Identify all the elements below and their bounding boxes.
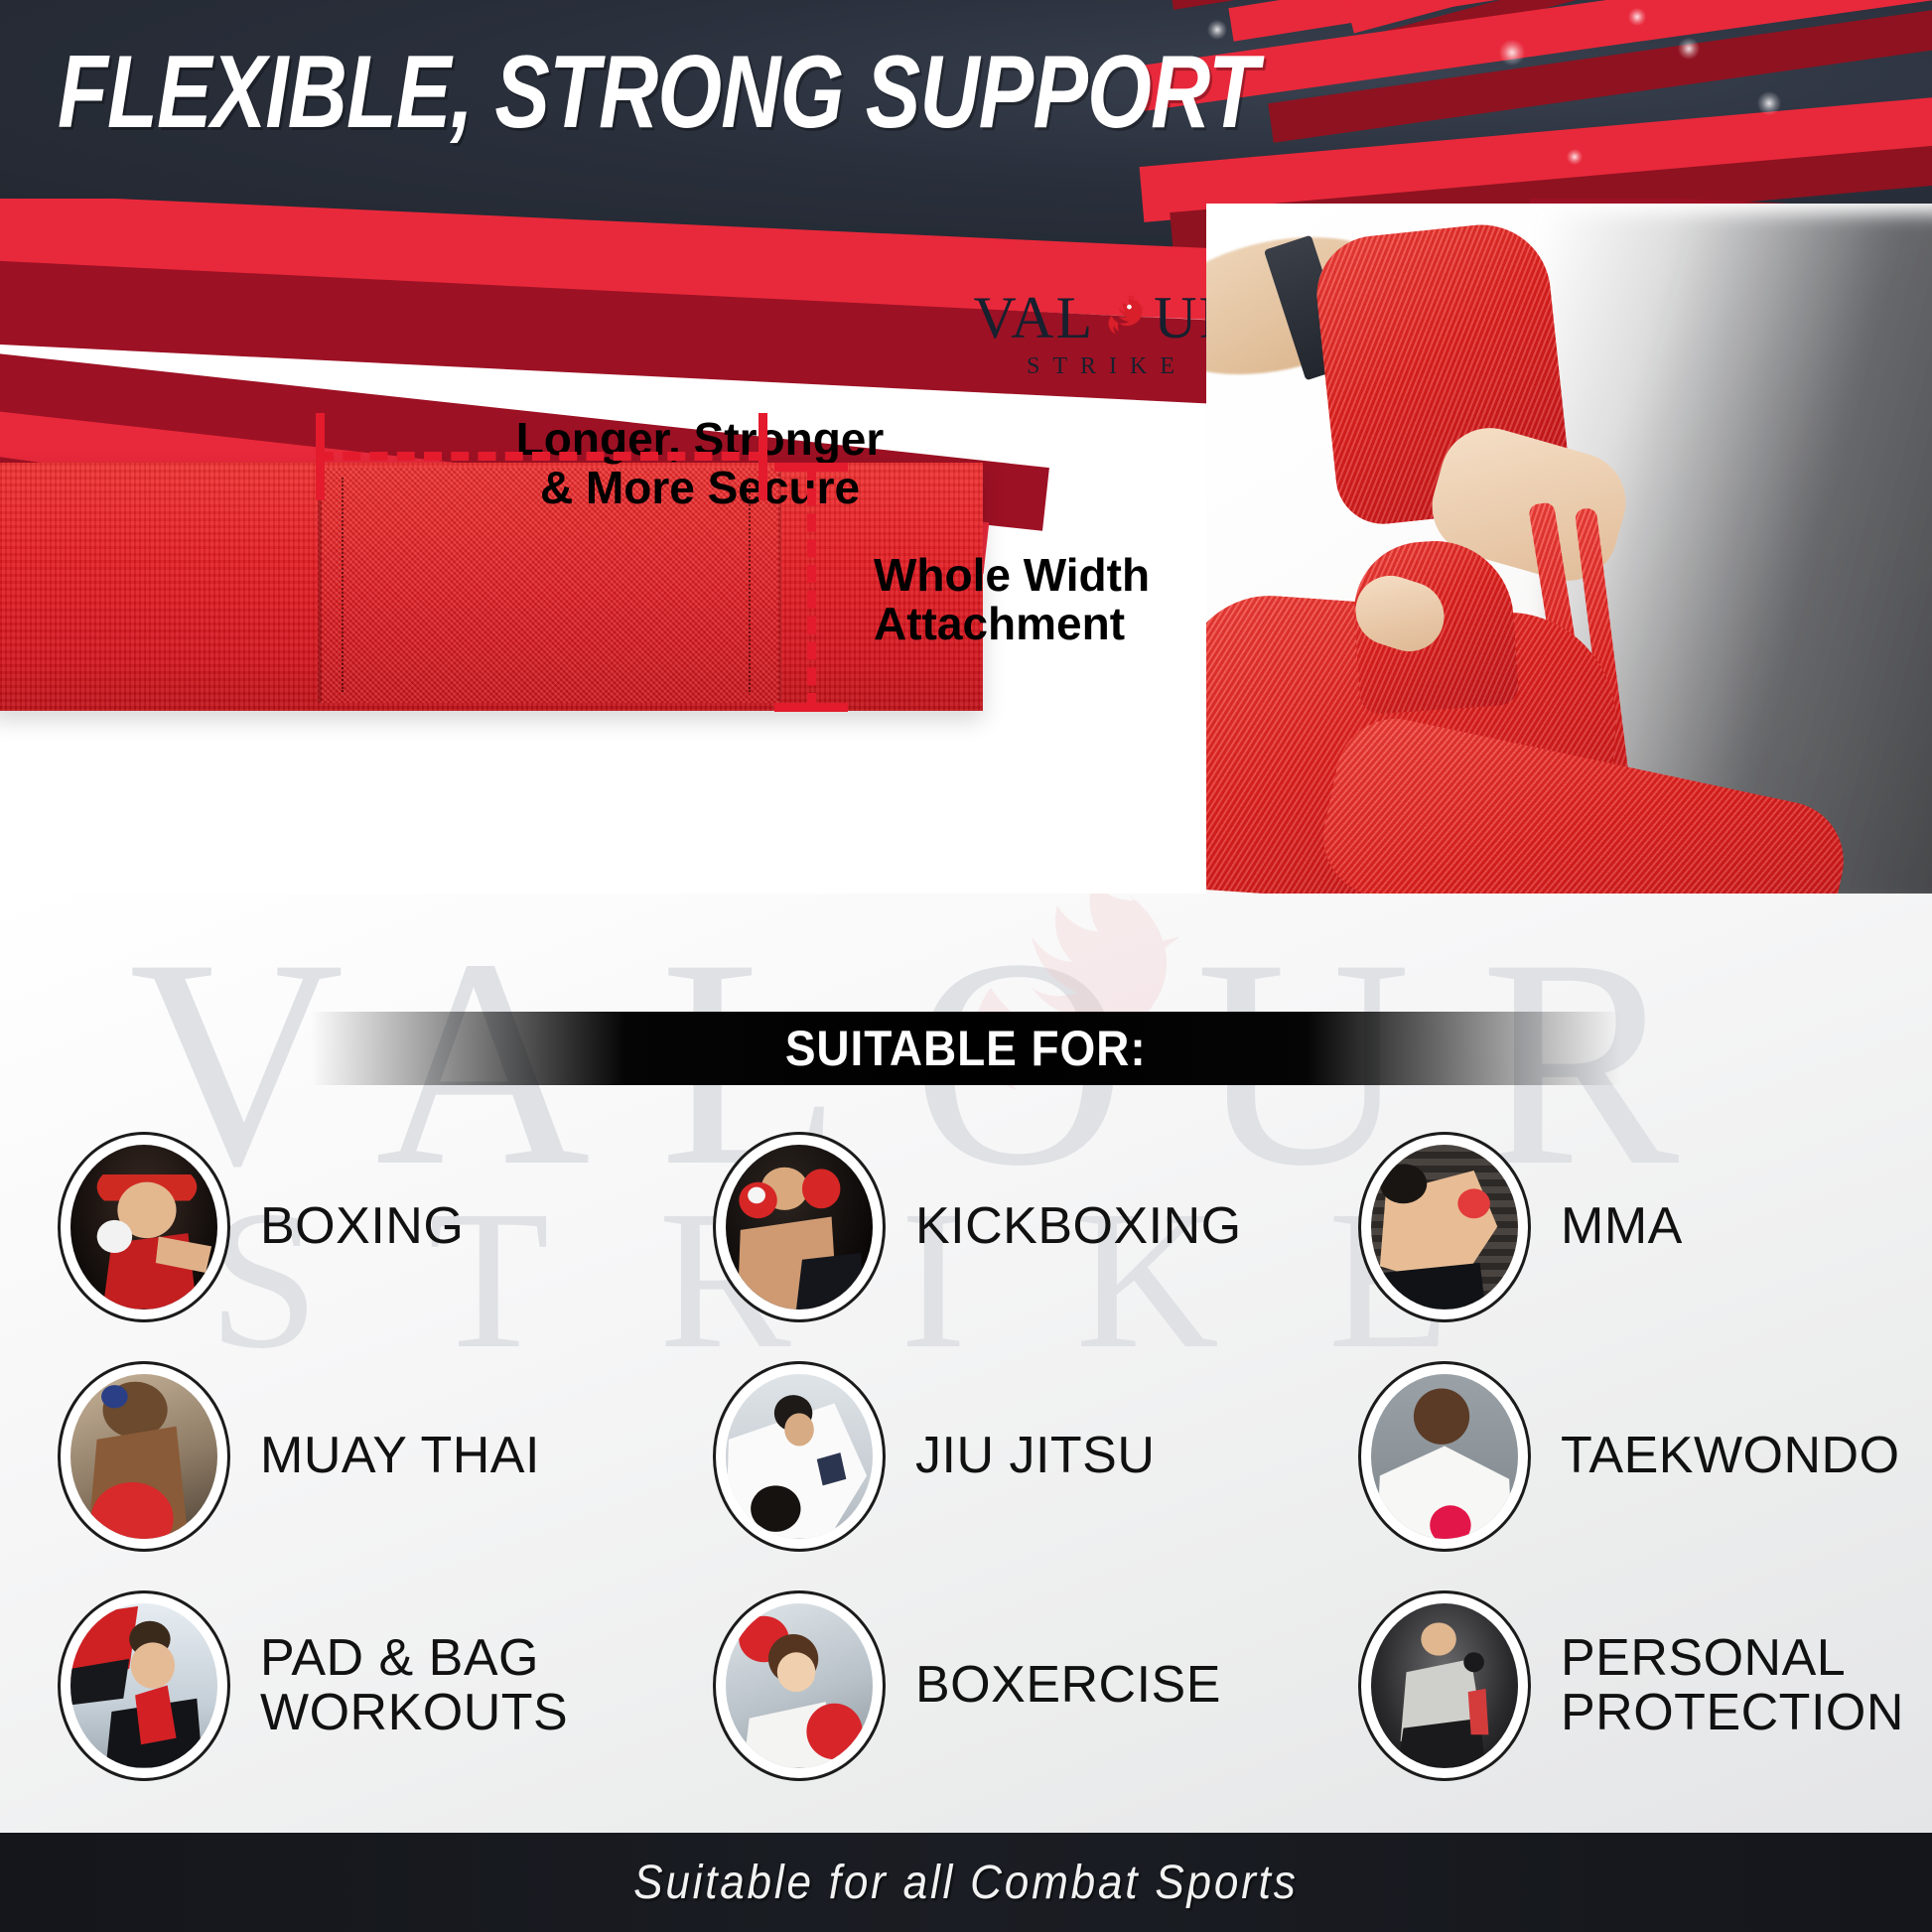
sport-item-jiu-jitsu[interactable]: JIU JITSU bbox=[713, 1341, 1358, 1571]
footer-bar: Suitable for all Combat Sports bbox=[0, 1833, 1932, 1932]
sport-label: PERSONAL PROTECTION bbox=[1561, 1631, 1904, 1738]
infographic-page: FLEXIBLE, STRONG SUPPORT VAL bbox=[0, 0, 1932, 1932]
sport-item-boxercise[interactable]: BOXERCISE bbox=[713, 1571, 1358, 1800]
sport-item-mma[interactable]: MMA bbox=[1358, 1112, 1932, 1341]
sport-label: MMA bbox=[1561, 1199, 1683, 1253]
bokeh-dot bbox=[1499, 40, 1525, 66]
sport-thumbnail-ring bbox=[58, 1132, 230, 1322]
sports-grid: BOXING KICKBOXING bbox=[0, 1112, 1932, 1800]
sports-row: MUAY THAI JIU JITSU bbox=[0, 1341, 1932, 1571]
page-title: FLEXIBLE, STRONG SUPPORT bbox=[58, 34, 1258, 152]
pad-bag-photo bbox=[70, 1603, 217, 1768]
kickboxing-photo bbox=[726, 1145, 873, 1310]
taekwondo-photo bbox=[1371, 1374, 1518, 1539]
sports-row: PAD & BAG WORKOUTS BOXERCISE bbox=[0, 1571, 1932, 1800]
bokeh-dot bbox=[1757, 91, 1781, 115]
sport-label: BOXERCISE bbox=[915, 1658, 1221, 1712]
sport-thumbnail-ring bbox=[58, 1361, 230, 1552]
sport-item-personal-protection[interactable]: PERSONAL PROTECTION bbox=[1358, 1571, 1932, 1800]
brand-name-part1: VAL bbox=[974, 288, 1095, 347]
sport-label: MUAY THAI bbox=[260, 1429, 540, 1482]
sport-item-taekwondo[interactable]: TAEKWONDO bbox=[1358, 1341, 1932, 1571]
sport-thumbnail-ring bbox=[1358, 1361, 1531, 1552]
boxercise-photo bbox=[726, 1603, 873, 1768]
measure-dashed-line-vertical bbox=[807, 463, 816, 711]
sport-item-kickboxing[interactable]: KICKBOXING bbox=[713, 1112, 1358, 1341]
sport-thumbnail-ring bbox=[713, 1132, 886, 1322]
measure-cap-bottom bbox=[774, 703, 848, 712]
bokeh-dot bbox=[1678, 38, 1700, 60]
personal-protection-photo bbox=[1371, 1603, 1518, 1768]
sport-label: TAEKWONDO bbox=[1561, 1429, 1900, 1482]
callout-longer-stronger: Longer, Stronger & More Secure bbox=[377, 415, 1023, 512]
sport-thumbnail-ring bbox=[58, 1590, 230, 1781]
jiu-jitsu-photo bbox=[726, 1374, 873, 1539]
sport-label: JIU JITSU bbox=[915, 1429, 1155, 1482]
sport-item-boxing[interactable]: BOXING bbox=[0, 1112, 713, 1341]
sport-thumbnail-ring bbox=[1358, 1132, 1531, 1322]
measure-dashed-line-horizontal bbox=[316, 452, 766, 461]
sport-label: KICKBOXING bbox=[915, 1199, 1242, 1253]
sport-thumbnail-ring bbox=[713, 1361, 886, 1552]
sport-label: BOXING bbox=[260, 1199, 464, 1253]
muay-thai-photo bbox=[70, 1374, 217, 1539]
sport-thumbnail-ring bbox=[713, 1590, 886, 1781]
bokeh-dot bbox=[1567, 149, 1583, 165]
boxing-photo bbox=[70, 1145, 217, 1310]
suitable-for-banner: SUITABLE FOR: bbox=[311, 1012, 1621, 1085]
bokeh-dot bbox=[1628, 8, 1646, 26]
footer-tagline: Suitable for all Combat Sports bbox=[633, 1856, 1298, 1910]
eagle-head-icon bbox=[1095, 289, 1153, 346]
mma-photo bbox=[1371, 1145, 1518, 1310]
sport-label: PAD & BAG WORKOUTS bbox=[260, 1631, 568, 1738]
suitable-for-label: SUITABLE FOR: bbox=[785, 1020, 1147, 1077]
sport-item-pad-bag-workouts[interactable]: PAD & BAG WORKOUTS bbox=[0, 1571, 713, 1800]
sport-thumbnail-ring bbox=[1358, 1590, 1531, 1781]
callout-whole-width: Whole Width Attachment bbox=[874, 551, 1251, 648]
measure-cap-right bbox=[759, 413, 767, 500]
model-hand-wrap-photo bbox=[1206, 204, 1932, 898]
sport-item-muay-thai[interactable]: MUAY THAI bbox=[0, 1341, 713, 1571]
sports-row: BOXING KICKBOXING bbox=[0, 1112, 1932, 1341]
stitch-line bbox=[342, 478, 344, 692]
